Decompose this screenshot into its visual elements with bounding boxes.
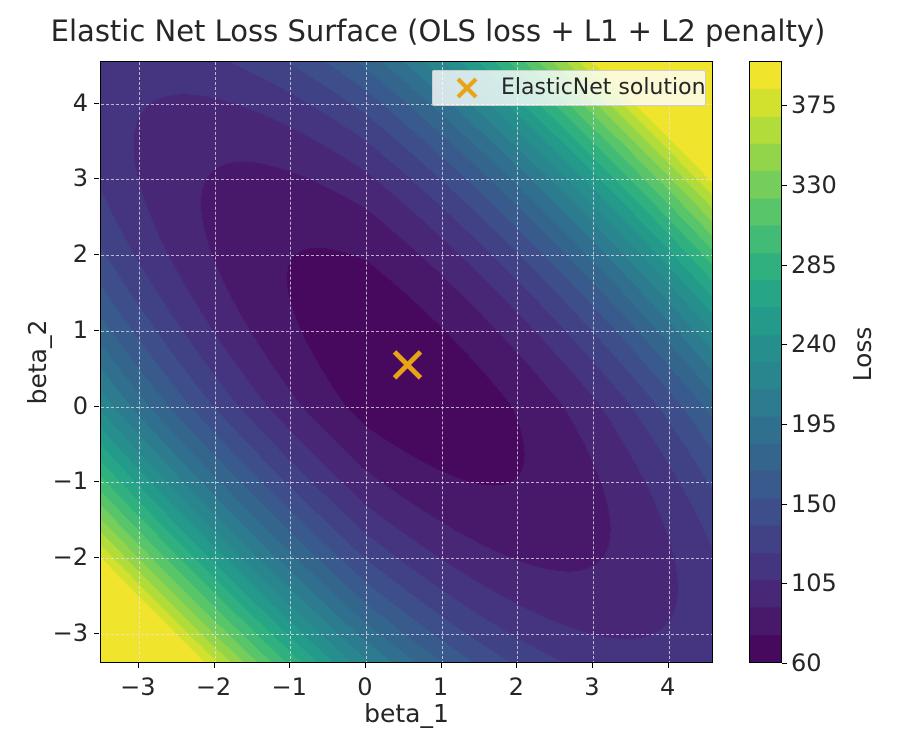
x-tick-label: 1 xyxy=(433,675,448,699)
colorbar-tick-label: 285 xyxy=(791,253,837,277)
colorbar-tick-mark xyxy=(782,424,787,425)
colorbar-gradient xyxy=(750,62,781,662)
y-tick-mark xyxy=(94,330,99,331)
page-title: Elastic Net Loss Surface (OLS loss + L1 … xyxy=(0,14,900,48)
y-tick-label: −3 xyxy=(0,621,88,645)
x-tick-label: −2 xyxy=(196,675,231,699)
y-tick-mark xyxy=(94,103,99,104)
x-tick-mark xyxy=(441,663,442,668)
x-tick-label: 2 xyxy=(509,675,524,699)
y-tick-label: −2 xyxy=(0,545,88,569)
colorbar-tick-label: 105 xyxy=(791,571,837,595)
y-tick-label: 3 xyxy=(0,166,88,190)
legend-item-label: ElasticNet solution xyxy=(501,76,706,100)
contour-surface xyxy=(101,62,713,663)
x-tick-mark xyxy=(516,663,517,668)
colorbar-tick-mark xyxy=(782,265,787,266)
y-tick-mark xyxy=(94,481,99,482)
matplotlib-figure: Elastic Net Loss Surface (OLS loss + L1 … xyxy=(0,0,900,750)
colorbar-tick-label: 195 xyxy=(791,412,837,436)
colorbar-label: Loss xyxy=(849,264,877,444)
x-tick-label: −1 xyxy=(271,675,306,699)
x-axis-label: beta_1 xyxy=(100,700,713,728)
colorbar-tick-label: 60 xyxy=(791,651,822,675)
colorbar-tick-mark xyxy=(782,663,787,664)
x-tick-label: 0 xyxy=(357,675,372,699)
colorbar-tick-mark xyxy=(782,105,787,106)
y-tick-mark xyxy=(94,254,99,255)
x-tick-mark xyxy=(365,663,366,668)
x-tick-label: 3 xyxy=(584,675,599,699)
y-tick-mark xyxy=(94,633,99,634)
x-tick-mark xyxy=(289,663,290,668)
x-tick-label: −3 xyxy=(120,675,155,699)
legend-box[interactable]: ElasticNet solution xyxy=(432,70,706,106)
colorbar-tick-mark xyxy=(782,504,787,505)
x-tick-mark xyxy=(214,663,215,668)
colorbar-tick-label: 375 xyxy=(791,93,837,117)
colorbar-tick-label: 330 xyxy=(791,173,837,197)
colorbar-tick-mark xyxy=(782,344,787,345)
x-tick-mark xyxy=(138,663,139,668)
y-tick-mark xyxy=(94,178,99,179)
y-tick-mark xyxy=(94,406,99,407)
x-tick-label: 4 xyxy=(660,675,675,699)
y-tick-mark xyxy=(94,557,99,558)
colorbar-tick-mark xyxy=(782,185,787,186)
x-tick-mark xyxy=(668,663,669,668)
x-tick-mark xyxy=(592,663,593,668)
colorbar-tick-mark xyxy=(782,583,787,584)
colorbar-tick-label: 150 xyxy=(791,492,837,516)
legend-marker-cell xyxy=(433,73,501,103)
colorbar-tick-label: 240 xyxy=(791,332,837,356)
y-axis-label: beta_2 xyxy=(24,242,52,482)
colorbar[interactable] xyxy=(749,61,782,663)
y-tick-label: 4 xyxy=(0,91,88,115)
x-marker-icon xyxy=(452,73,482,103)
plot-axes[interactable] xyxy=(100,61,713,663)
